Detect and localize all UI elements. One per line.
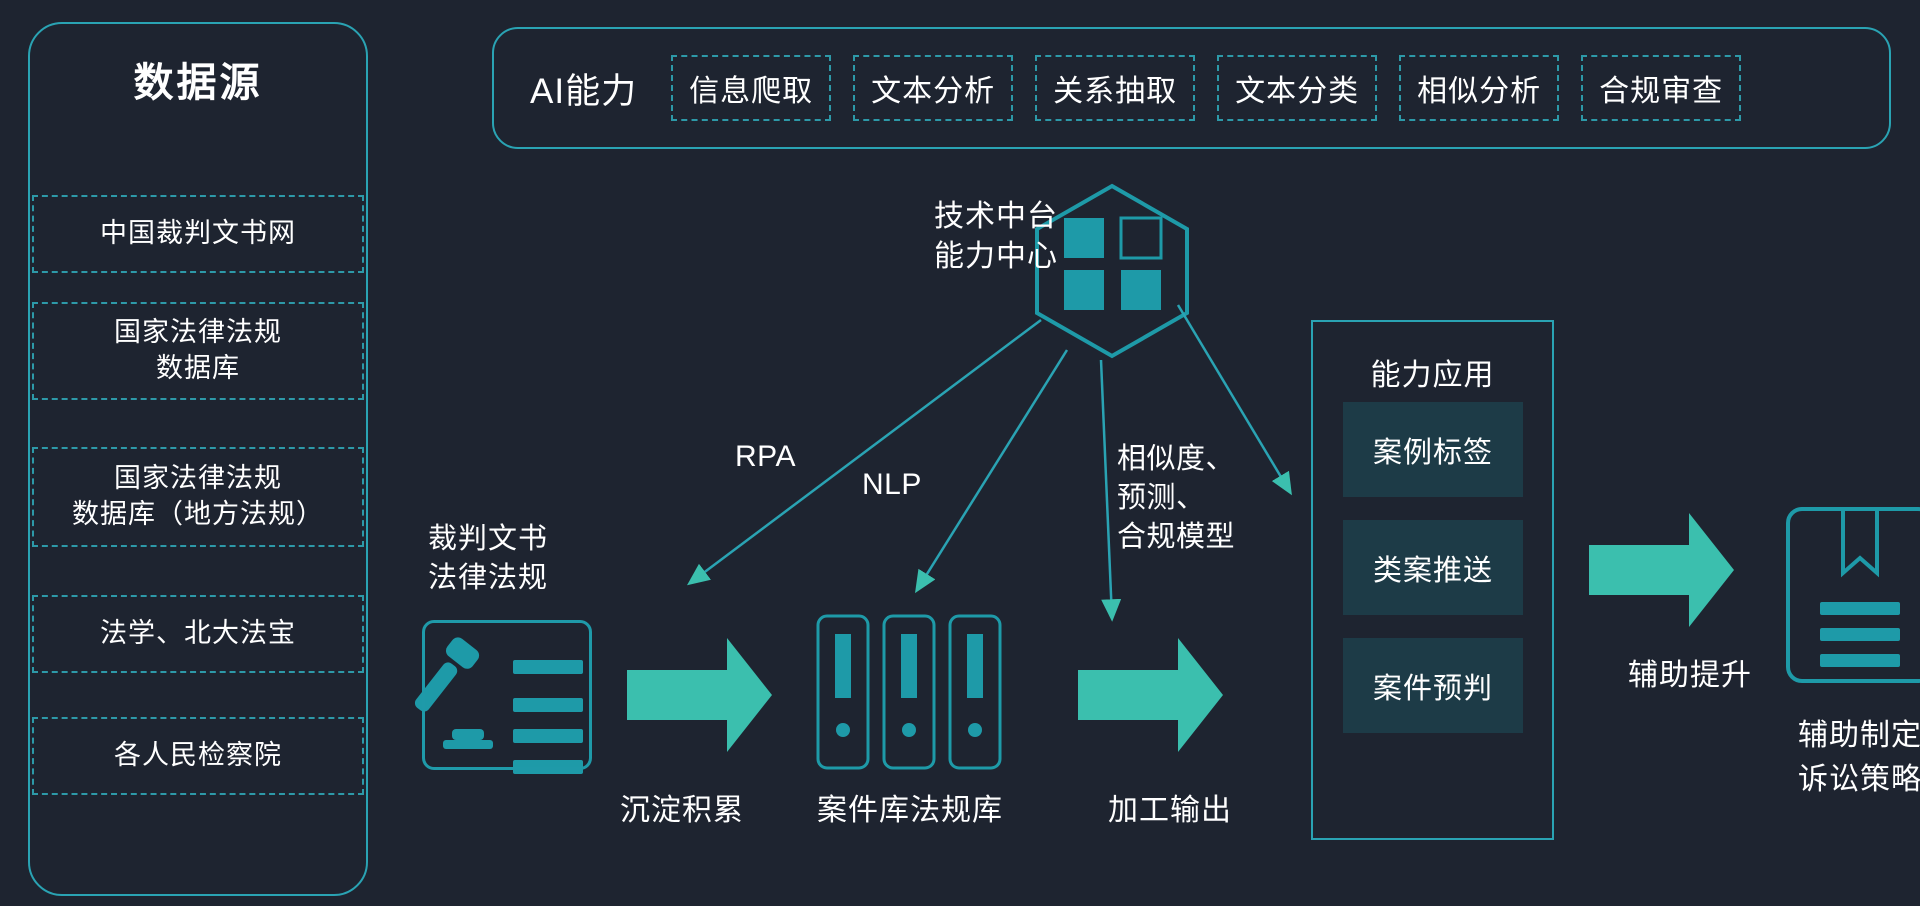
ai-chip-text-analysis[interactable]: 文本分析 (853, 55, 1013, 121)
edge-label-similarity: 相似度、 预测、 合规模型 (1117, 440, 1235, 557)
caption-accumulation: 沉淀积累 (592, 785, 772, 829)
flow-arrow-3 (1589, 513, 1734, 627)
edge-label-rpa: RPA (735, 440, 796, 474)
ai-capability-bar: AI能力 信息爬取 文本分析 关系抽取 文本分类 相似分析 合规审查 (492, 27, 1891, 149)
edge-similarity (1101, 360, 1112, 618)
capability-item-similar-case-push[interactable]: 类案推送 (1343, 520, 1523, 615)
hexagon-grid-icon (1037, 186, 1187, 356)
documents-icon-frame (422, 620, 592, 770)
capability-item-case-tag[interactable]: 案例标签 (1343, 402, 1523, 497)
edge-nlp (917, 350, 1067, 590)
datasource-item-1[interactable]: 中国裁判文书网 (32, 195, 364, 273)
datasource-item-2[interactable]: 国家法律法规 数据库 (32, 302, 364, 400)
flow-arrow-2 (1078, 638, 1223, 752)
edge-label-nlp: NLP (862, 468, 922, 502)
ai-chip-text-classification[interactable]: 文本分类 (1217, 55, 1377, 121)
datasource-title: 数据源 (28, 50, 368, 108)
hub-label: 技术中台 能力中心 (838, 197, 1058, 276)
ai-capability-title: AI能力 (530, 63, 637, 114)
diagram-canvas: 数据源 中国裁判文书网 国家法律法规 数据库 国家法律法规 数据库（地方法规） … (0, 0, 1920, 906)
datasource-item-3[interactable]: 国家法律法规 数据库（地方法规） (32, 447, 364, 547)
server-rack-icon (818, 616, 1000, 768)
ai-chip-compliance-review[interactable]: 合规审查 (1581, 55, 1741, 121)
capability-panel-title: 能力应用 (1311, 350, 1554, 394)
caption-assisted-improvement: 辅助提升 (1600, 650, 1780, 694)
caption-litigation-strategy: 辅助制定 诉讼策略 (1740, 710, 1920, 798)
caption-processing-output: 加工输出 (1080, 785, 1260, 829)
ai-chip-info-crawl[interactable]: 信息爬取 (671, 55, 831, 121)
caption-case-law-database: 案件库法规库 (800, 785, 1020, 829)
bookmark-document-icon (1788, 509, 1920, 681)
flow-arrow-1 (627, 638, 772, 752)
ai-chip-relation-extraction[interactable]: 关系抽取 (1035, 55, 1195, 121)
capability-item-case-prediction[interactable]: 案件预判 (1343, 638, 1523, 733)
documents-label: 裁判文书 法律法规 (428, 520, 638, 598)
datasource-item-5[interactable]: 各人民检察院 (32, 717, 364, 795)
datasource-item-4[interactable]: 法学、北大法宝 (32, 595, 364, 673)
ai-chip-similarity-analysis[interactable]: 相似分析 (1399, 55, 1559, 121)
